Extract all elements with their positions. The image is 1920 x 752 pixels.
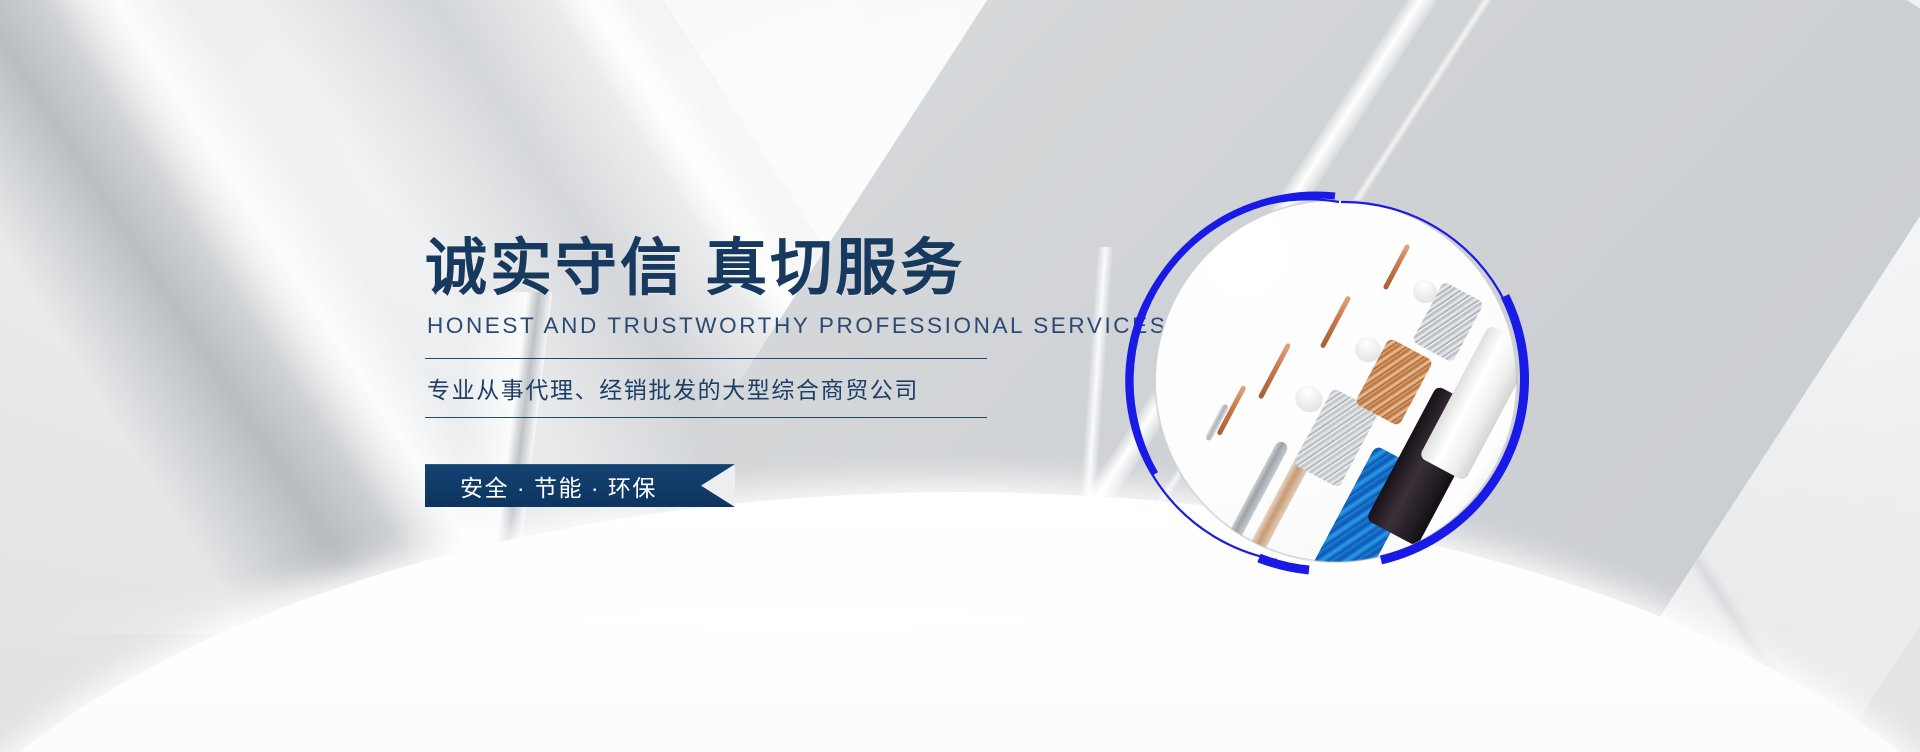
page-title: 诚实守信 真切服务 <box>425 236 1045 301</box>
page-subtitle: HONEST AND TRUSTWORTHY PROFESSIONAL SERV… <box>427 313 1045 339</box>
tagline-rule-bottom <box>425 417 987 418</box>
tagline-block: 专业从事代理、经销批发的大型综合商贸公司 <box>425 358 987 418</box>
tagline-rule-top <box>425 358 987 359</box>
chevron-notch-icon <box>701 464 735 507</box>
background-floor-glow <box>0 514 1920 634</box>
hero-copy: 诚实守信 真切服务 HONEST AND TRUSTWORTHY PROFESS… <box>425 236 1045 507</box>
feature-ribbon: 安全 · 节能 · 环保 <box>425 464 735 507</box>
product-circle <box>1155 200 1517 562</box>
circle-outline-icon <box>1113 156 1565 608</box>
hero-banner: 诚实守信 真切服务 HONEST AND TRUSTWORTHY PROFESS… <box>0 0 1920 752</box>
tagline-text: 专业从事代理、经销批发的大型综合商贸公司 <box>425 359 987 417</box>
feature-ribbon-label: 安全 · 节能 · 环保 <box>425 469 657 503</box>
